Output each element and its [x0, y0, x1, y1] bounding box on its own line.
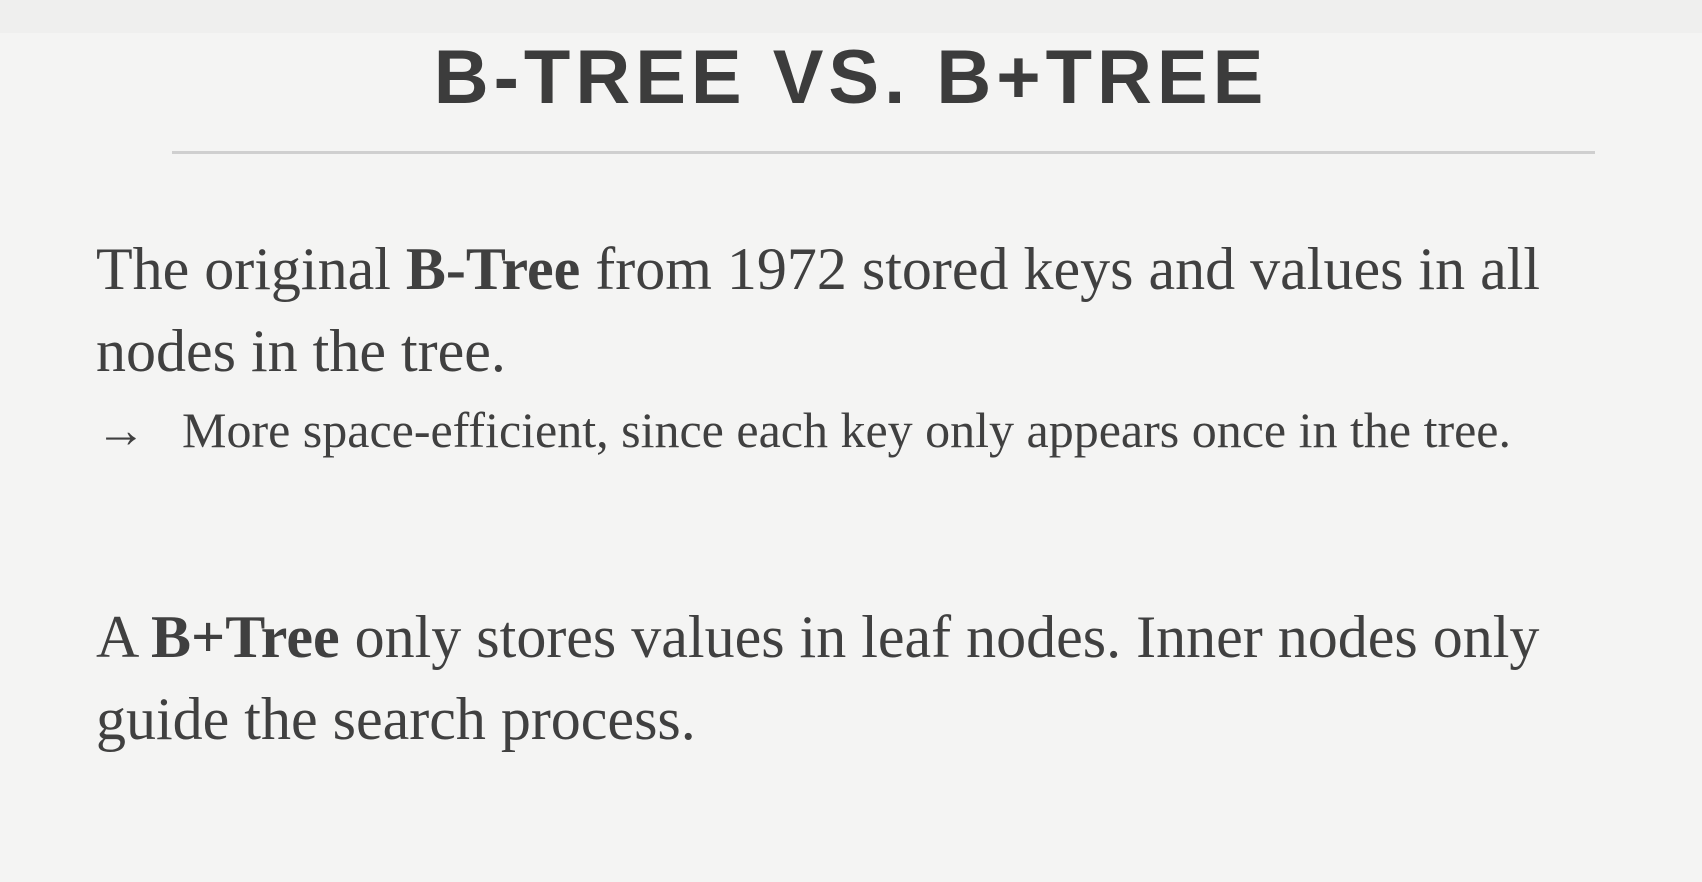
list-item: →More space-efficient, since each key on… — [96, 396, 1656, 464]
slide-canvas: B-TREE VS. B+TREE The original B-Tree fr… — [0, 0, 1702, 882]
sub-bullet-list: →More space-efficient, since each key on… — [96, 396, 1656, 464]
paragraph-btree: The original B-Tree from 1972 stored key… — [96, 228, 1656, 392]
paragraph-bplustree-emphasis: B+Tree — [151, 604, 340, 670]
title-divider — [172, 151, 1595, 154]
paragraph-btree-lead: The original — [96, 236, 406, 302]
paragraph-spacer — [96, 464, 1656, 596]
paragraph-btree-emphasis: B-Tree — [406, 236, 580, 302]
body-content: The original B-Tree from 1972 stored key… — [96, 228, 1656, 760]
paragraph-bplustree: A B+Tree only stores values in leaf node… — [96, 596, 1656, 760]
top-edge-band — [0, 0, 1702, 33]
sub-bullet-text: More space-efficient, since each key onl… — [182, 402, 1511, 458]
right-arrow-icon: → — [96, 396, 146, 464]
title-block: B-TREE VS. B+TREE — [0, 36, 1702, 120]
paragraph-bplustree-lead: A — [96, 604, 151, 670]
page-title: B-TREE VS. B+TREE — [0, 36, 1702, 120]
